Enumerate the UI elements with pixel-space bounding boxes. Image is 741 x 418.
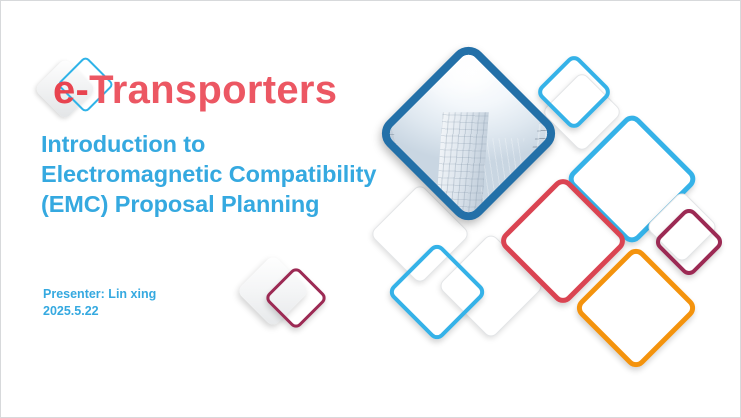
logo-letter-e: e [53, 68, 76, 112]
slide-title-line-2: Electromagnetic Compatibility [41, 159, 436, 189]
presenter-block: Presenter: Lin xing 2025.5.22 [43, 286, 156, 320]
presentation-slide: e-Transporters Introduction to Electroma… [0, 0, 741, 418]
slide-title-line-1: Introduction to [41, 129, 436, 159]
slide-title-line-3: (EMC) Proposal Planning [41, 189, 436, 219]
logo-name: Transporters [89, 68, 337, 112]
logo-dash: - [76, 68, 90, 112]
logo-wordmark: e-Transporters [53, 59, 337, 121]
presenter-name: Presenter: Lin xing [43, 286, 156, 303]
slide-title: Introduction to Electromagnetic Compatib… [41, 129, 436, 219]
presentation-date: 2025.5.22 [43, 303, 156, 320]
